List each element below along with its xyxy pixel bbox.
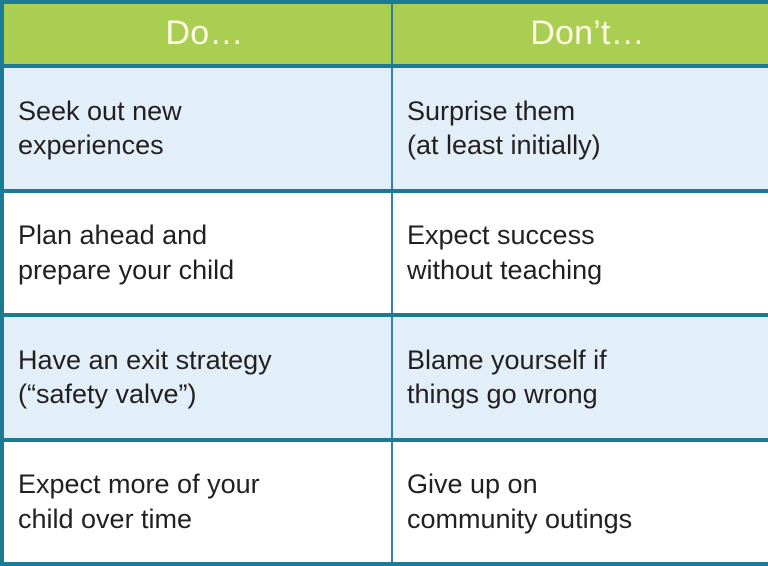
column-header-dont: Don’t… [392,2,768,66]
cell-do-3: Have an exit strategy (“safety valve”) [2,315,392,440]
table-body: Seek out new experiences Surprise them (… [2,66,768,564]
cell-line: Surprise them [407,94,758,129]
cell-do-1: Seek out new experiences [2,66,392,191]
cell-line: (at least initially) [407,128,758,163]
cell-line: without teaching [407,253,758,288]
cell-dont-2: Expect success without teaching [392,191,768,316]
table-row: Have an exit strategy (“safety valve”) B… [2,315,768,440]
cell-line: Plan ahead and [18,218,381,253]
table-header: Do… Don’t… [2,2,768,66]
cell-do-2: Plan ahead and prepare your child [2,191,392,316]
cell-dont-1: Surprise them (at least initially) [392,66,768,191]
cell-line: (“safety valve”) [18,377,381,412]
cell-line: Expect more of your [18,467,381,502]
cell-do-4: Expect more of your child over time [2,440,392,565]
cell-line: Give up on [407,467,758,502]
cell-line: Have an exit strategy [18,343,381,378]
table-row: Seek out new experiences Surprise them (… [2,66,768,191]
cell-dont-3: Blame yourself if things go wrong [392,315,768,440]
cell-dont-4: Give up on community outings [392,440,768,565]
table-row: Plan ahead and prepare your child Expect… [2,191,768,316]
header-row: Do… Don’t… [2,2,768,66]
cell-line: Seek out new [18,94,381,129]
cell-line: Blame yourself if [407,343,758,378]
cell-line: Expect success [407,218,758,253]
cell-line: child over time [18,502,381,537]
cell-line: community outings [407,502,758,537]
table-row: Expect more of your child over time Give… [2,440,768,565]
cell-line: prepare your child [18,253,381,288]
do-dont-table: Do… Don’t… Seek out new experiences Surp… [0,0,768,566]
cell-line: things go wrong [407,377,758,412]
cell-line: experiences [18,128,381,163]
column-header-do: Do… [2,2,392,66]
